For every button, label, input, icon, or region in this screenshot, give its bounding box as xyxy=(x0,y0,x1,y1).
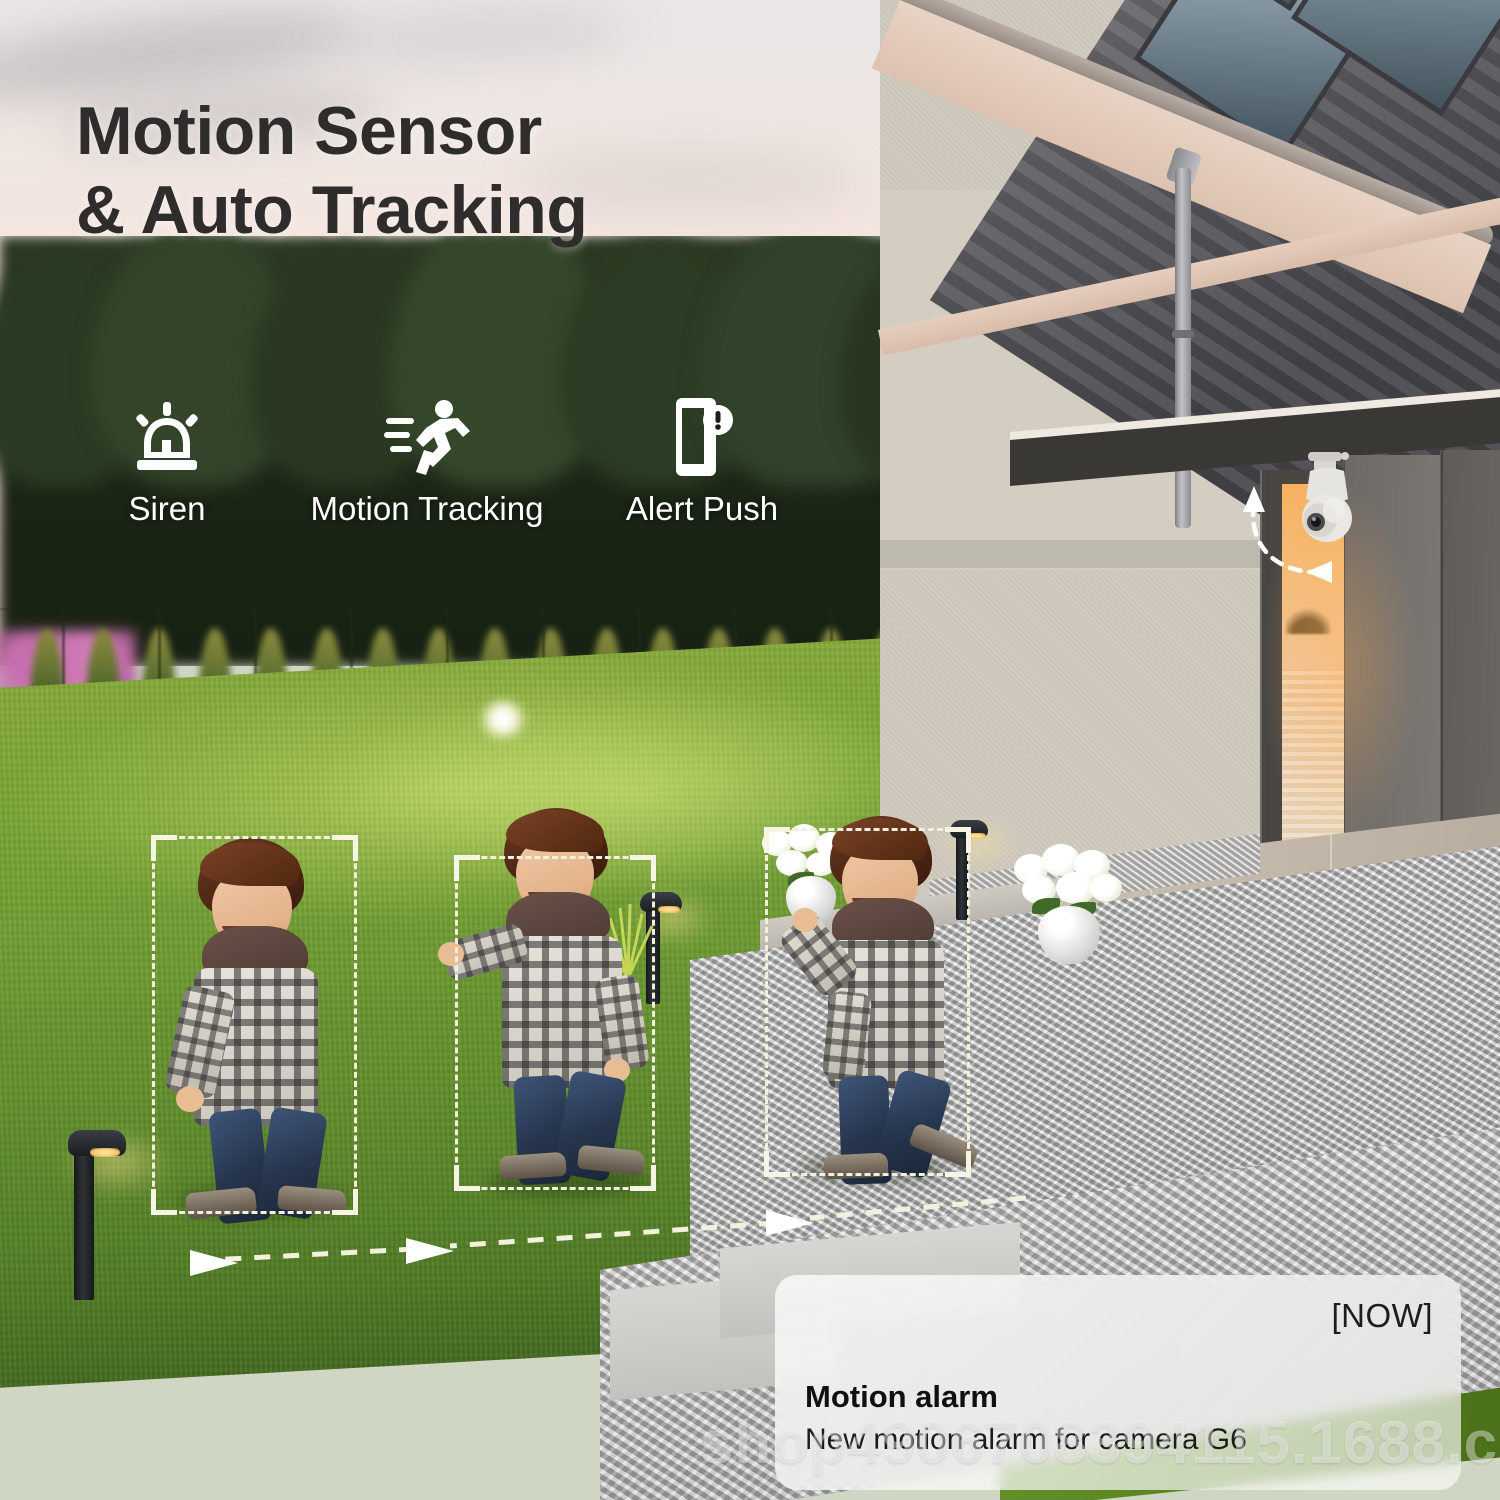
downspout-bracket xyxy=(1172,330,1194,338)
downspout xyxy=(1175,168,1191,528)
garden-bollard-lamp xyxy=(74,1132,94,1300)
feature-label: Siren xyxy=(128,490,205,528)
camera-pan-arrow xyxy=(1232,480,1372,620)
notification-time-badge: [NOW] xyxy=(1332,1297,1433,1335)
product-marketing-image: Motion Sensor & Auto Tracking Siren xyxy=(0,0,1500,1500)
cloud xyxy=(329,2,631,70)
box-corner xyxy=(945,827,971,853)
headline-line-2: & Auto Tracking xyxy=(76,171,896,250)
headline-line-1: Motion Sensor xyxy=(76,92,896,171)
flower-planter xyxy=(1008,848,1138,968)
tracking-box xyxy=(152,836,357,1214)
feature-label: Motion Tracking xyxy=(311,490,544,528)
running-person-icon xyxy=(384,400,470,476)
siren-icon xyxy=(128,400,206,476)
motion-trail-arrows xyxy=(150,1160,1030,1290)
light-orb xyxy=(480,700,526,738)
watermark: shop4906708394115.1688.com xyxy=(700,1408,1500,1477)
box-corner xyxy=(764,827,790,853)
tracking-box xyxy=(765,828,970,1176)
box-corner xyxy=(151,835,177,861)
feature-siren: Siren xyxy=(72,400,262,528)
feature-label: Alert Push xyxy=(626,490,778,528)
tracking-box xyxy=(455,856,655,1190)
feature-list: Siren Motion Tracking xyxy=(72,400,812,528)
box-corner xyxy=(332,835,358,861)
page-title: Motion Sensor & Auto Tracking xyxy=(76,92,896,250)
phone-alert-icon xyxy=(670,400,734,476)
feature-motion-tracking: Motion Tracking xyxy=(262,400,592,528)
box-corner xyxy=(630,855,656,881)
box-corner xyxy=(454,855,480,881)
feature-alert-push: Alert Push xyxy=(592,400,812,528)
